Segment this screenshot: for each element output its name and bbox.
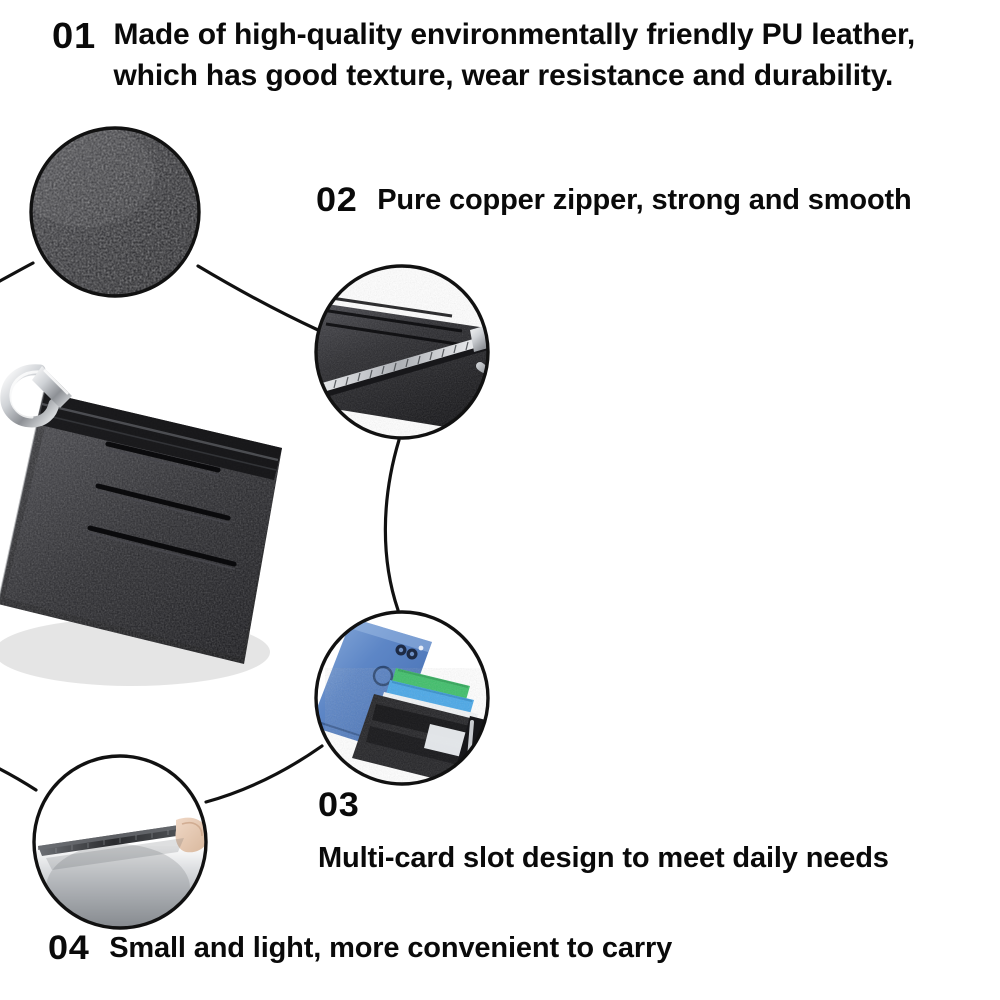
thin-profile-circle	[34, 756, 208, 932]
card-slot-circle	[310, 612, 490, 800]
leather-texture-circle	[15, 122, 207, 304]
zipper-circle	[292, 266, 516, 466]
wallet-with-cards	[340, 668, 490, 800]
detail-circles	[0, 0, 1000, 1000]
product-infographic: 01 Made of high-quality environmentally …	[0, 0, 1000, 1000]
